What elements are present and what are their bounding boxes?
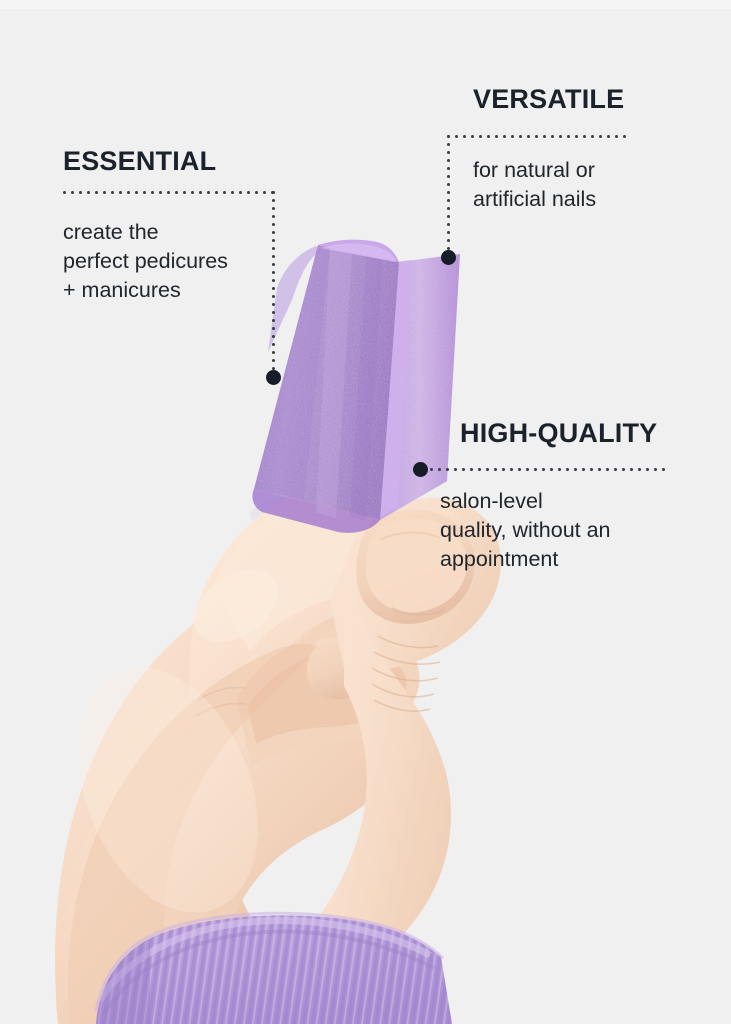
callout-versatile-rule-vertical: [447, 135, 450, 253]
callout-essential-rule-horizontal: [63, 191, 275, 194]
callout-versatile-rule-horizontal: [447, 135, 627, 138]
callout-versatile-body: for natural or artificial nails: [473, 156, 596, 214]
callout-versatile-body-wrap: for natural or artificial nails: [473, 156, 596, 214]
callout-high-quality-rule-horizontal: [430, 468, 670, 471]
annotation-layer: ESSENTIAL create the perfect pedicures +…: [0, 0, 731, 1024]
callout-versatile-title: VERSATILE: [473, 86, 624, 113]
callout-essential-title: ESSENTIAL: [63, 148, 216, 175]
callout-versatile: VERSATILE: [473, 86, 624, 113]
callout-essential: ESSENTIAL: [63, 148, 216, 175]
callout-high-quality-body: salon-level quality, without an appointm…: [440, 487, 670, 574]
callout-essential-body-wrap: create the perfect pedicures + manicures: [63, 218, 228, 305]
callout-essential-dot-marker: [266, 370, 281, 385]
callout-essential-body: create the perfect pedicures + manicures: [63, 218, 228, 305]
callout-high-quality-body-wrap: salon-level quality, without an appointm…: [440, 487, 670, 574]
callout-versatile-dot-marker: [441, 250, 456, 265]
callout-high-quality-title: HIGH-QUALITY: [460, 420, 657, 447]
callout-essential-rule-vertical: [272, 191, 275, 373]
callout-high-quality-dot-marker: [413, 462, 428, 477]
product-infographic: ESSENTIAL create the perfect pedicures +…: [0, 0, 731, 1024]
callout-high-quality: HIGH-QUALITY: [460, 420, 657, 447]
